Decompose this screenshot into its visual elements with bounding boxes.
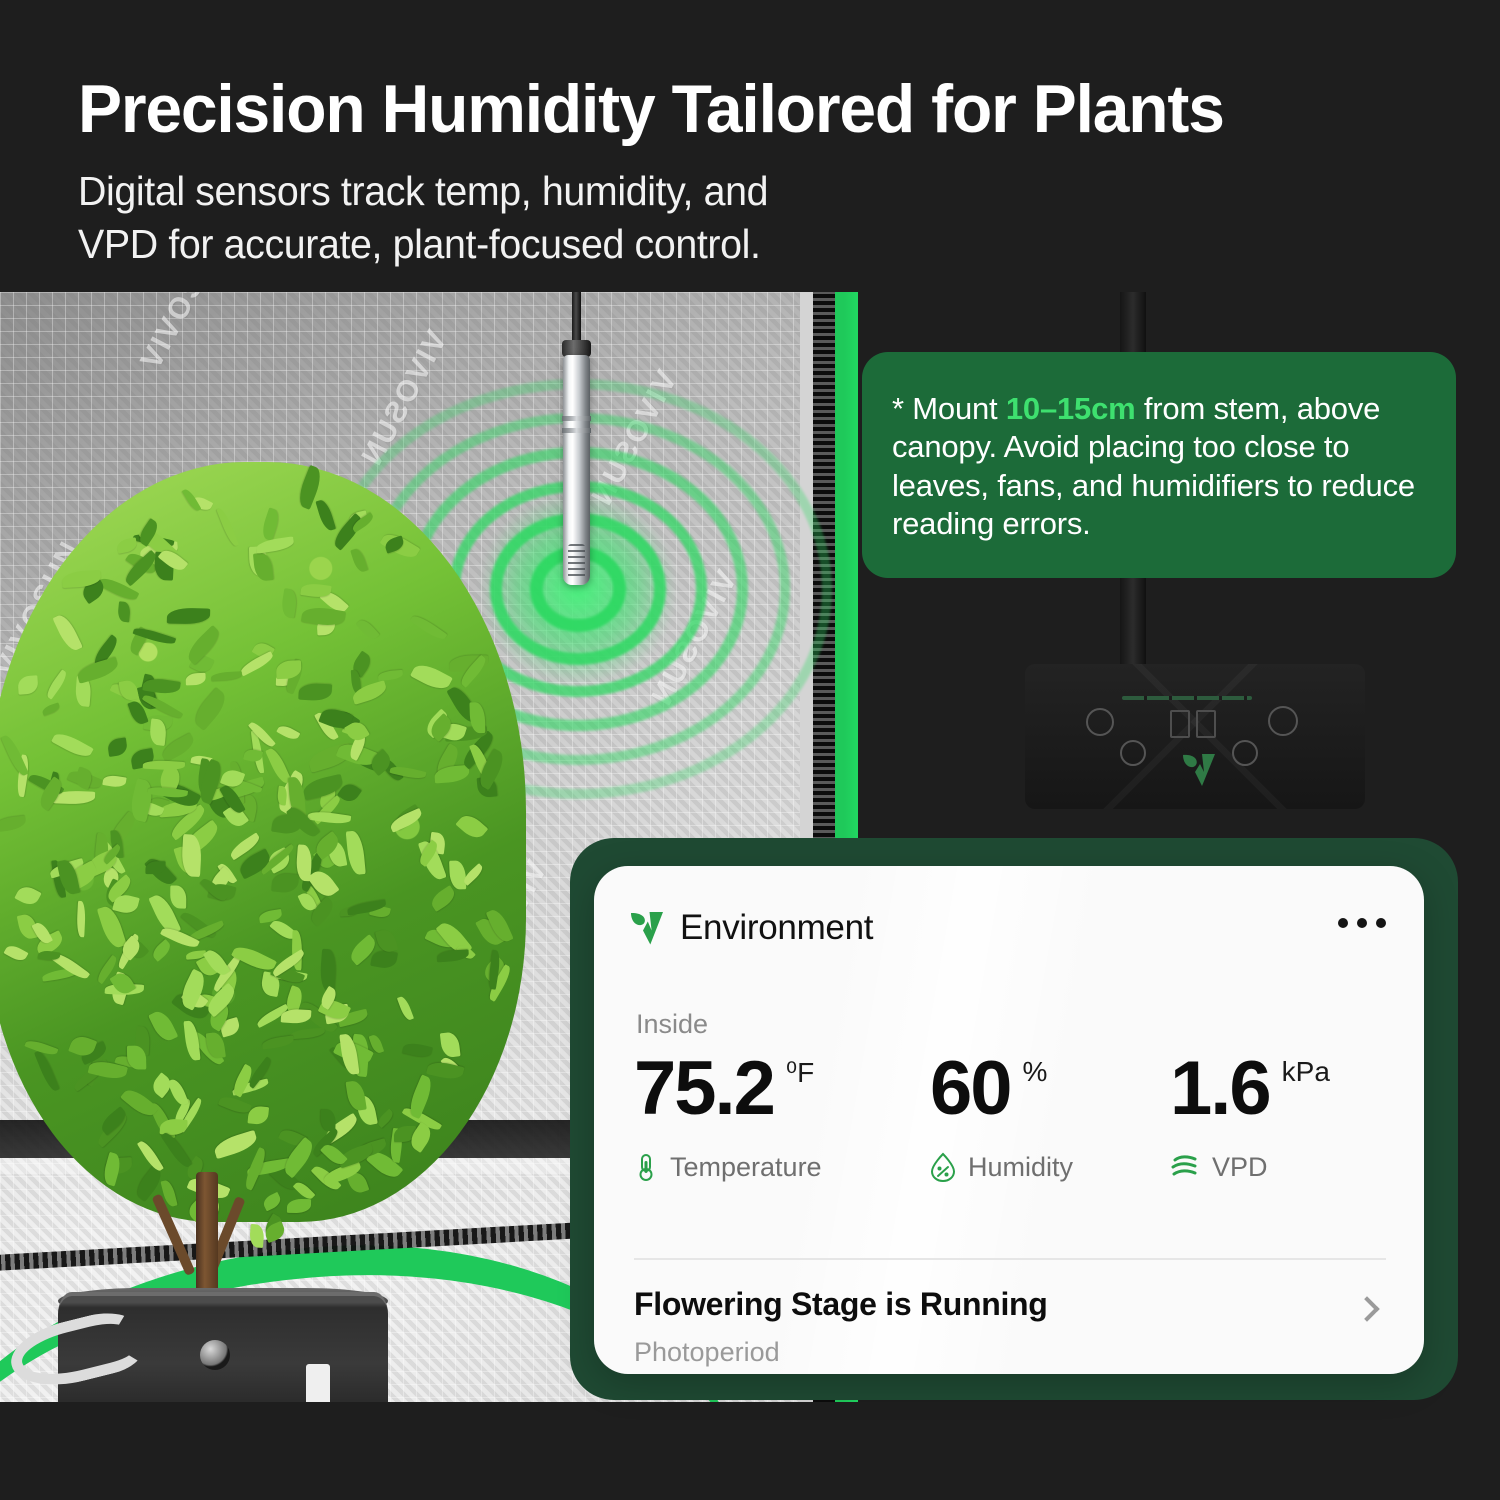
humidity-value: 60 <box>930 1054 1011 1124</box>
subtitle-line-1: Digital sensors track temp, humidity, an… <box>78 165 1403 218</box>
vpd-value: 1.6 <box>1170 1054 1270 1124</box>
vpd-label: VPD <box>1212 1152 1268 1183</box>
plant-leaf <box>411 660 454 694</box>
stage-status-title: Flowering Stage is Running <box>634 1286 1048 1323</box>
stage-status-row[interactable]: Flowering Stage is Running Photoperiod <box>634 1286 1048 1368</box>
probe-seam <box>562 416 591 421</box>
plant-leaf <box>406 1074 436 1118</box>
stage-status-subtitle: Photoperiod <box>634 1337 1048 1368</box>
plant-leaf <box>143 759 185 770</box>
plant-leaf <box>17 675 38 694</box>
controller-display <box>1170 710 1218 738</box>
plant-leaf <box>276 722 301 742</box>
plant-leaf <box>436 949 468 962</box>
plant-leaf <box>190 688 231 731</box>
plant-leaf <box>350 548 368 574</box>
plant-leaf <box>449 860 466 890</box>
environment-card[interactable]: Environment Inside 75.2 ⁰F Temperature <box>594 866 1424 1374</box>
temperature-value: 75.2 <box>634 1054 774 1124</box>
plant-leaf <box>161 1130 192 1170</box>
display-digit <box>1196 710 1216 738</box>
page-header: Precision Humidity Tailored for Plants D… <box>78 74 1458 271</box>
plant-leaf <box>51 729 93 760</box>
metric-humidity[interactable]: 60 % Humidity <box>930 1054 1170 1183</box>
metric-vpd[interactable]: 1.6 kPa VPD <box>1170 1054 1390 1183</box>
plant-leaf <box>117 601 131 622</box>
subtitle-line-2: VPD for accurate, plant-focused control. <box>78 218 1403 271</box>
plant-leaf <box>265 746 291 786</box>
plant-leaf <box>15 883 42 908</box>
plant-leaf <box>150 940 174 963</box>
humidity-unit: % <box>1023 1056 1048 1088</box>
plant-leaf <box>253 552 273 582</box>
metrics-row: 75.2 ⁰F Temperature 60 % <box>634 1054 1394 1183</box>
display-digit <box>1170 710 1190 738</box>
plant-leaf <box>4 942 29 963</box>
callout-text-before: Mount <box>912 391 1006 426</box>
plant-leaf <box>183 1020 200 1061</box>
plant-leaf <box>356 617 380 642</box>
plant-leaf <box>212 1130 259 1159</box>
vpd-waves-icon <box>1170 1153 1200 1181</box>
callout-highlight: 10–15cm <box>1006 391 1136 426</box>
plant-leaf <box>231 942 277 975</box>
plant-leaf <box>148 1008 179 1045</box>
page-subtitle: Digital sensors track temp, humidity, an… <box>78 165 1403 272</box>
metric-temperature[interactable]: 75.2 ⁰F Temperature <box>634 1054 930 1183</box>
pot-grommet <box>200 1340 230 1370</box>
plant-leaf <box>170 886 187 909</box>
humidity-drop-icon <box>930 1152 956 1182</box>
dot <box>1357 918 1367 928</box>
plant-leaf <box>116 537 138 554</box>
plant-leaf <box>0 815 27 832</box>
vpd-unit: kPa <box>1282 1056 1330 1088</box>
plant-canopy <box>0 462 526 1222</box>
plant-leaf <box>287 1198 311 1212</box>
card-header: Environment <box>630 908 873 948</box>
callout-text: * Mount 10–15cm from stem, above canopy.… <box>892 390 1422 544</box>
more-options-icon[interactable] <box>1338 918 1386 928</box>
plant-leaf <box>299 684 333 702</box>
plant-leaf <box>456 811 489 843</box>
plant-leaf <box>375 1109 395 1128</box>
plant-leaf <box>410 613 448 643</box>
plant-leaf <box>346 831 366 876</box>
temperature-label: Temperature <box>670 1152 822 1183</box>
plant-trunk <box>196 1172 218 1302</box>
plant-leaf <box>218 1093 252 1116</box>
section-label-inside: Inside <box>636 1009 708 1040</box>
metric-value-group: 1.6 kPa <box>1170 1054 1390 1124</box>
asterisk-marker: * <box>892 391 904 426</box>
vivosun-v-glyph <box>1182 752 1216 788</box>
plant-leaf <box>261 1035 294 1050</box>
plant-leaf <box>167 1076 189 1107</box>
plant-leaf <box>397 995 414 1022</box>
plant-leaf <box>378 670 404 681</box>
metric-footer: Temperature <box>634 1152 930 1183</box>
metric-footer: VPD <box>1170 1152 1390 1183</box>
probe-seam <box>562 428 591 433</box>
plant-leaf <box>319 949 337 992</box>
down-arrow-icon <box>1120 740 1146 766</box>
vivosun-logo <box>630 910 664 946</box>
metric-value-group: 60 % <box>930 1054 1170 1124</box>
plant-leaf <box>167 607 210 624</box>
plant-leaf <box>102 774 126 788</box>
card-title: Environment <box>680 908 873 948</box>
power-icon <box>1086 708 1114 736</box>
plant-leaf <box>107 738 128 757</box>
probe-vents <box>568 544 585 580</box>
plant-leaf <box>216 507 239 548</box>
metric-footer: Humidity <box>930 1152 1170 1183</box>
controller-brand-logo <box>1182 752 1206 778</box>
plant-leaf <box>316 498 337 532</box>
page-title: Precision Humidity Tailored for Plants <box>78 74 1417 145</box>
plant-leaf <box>44 669 70 700</box>
chevron-right-icon[interactable] <box>1354 1296 1379 1321</box>
plant-leaf <box>345 1079 367 1111</box>
dot <box>1338 918 1348 928</box>
plant-leaf <box>276 786 287 805</box>
plant-leaf <box>255 536 294 553</box>
humidity-label: Humidity <box>968 1152 1073 1183</box>
plant-leaf <box>261 1192 283 1212</box>
plant-leaf <box>41 702 61 716</box>
plant-leaf <box>272 873 300 894</box>
plant-leaf <box>211 671 243 681</box>
plant-leaf <box>307 810 351 826</box>
plant-leaf <box>34 1049 59 1093</box>
metric-value-group: 75.2 ⁰F <box>634 1054 930 1124</box>
plant-leaf <box>186 673 206 686</box>
plant-leaf <box>76 901 86 937</box>
up-chevron-icon <box>1268 706 1298 736</box>
plant-leaf <box>428 885 458 912</box>
plant-leaf <box>440 1032 461 1058</box>
thermometer-icon <box>634 1152 658 1182</box>
card-divider <box>634 1258 1386 1260</box>
plant-leaf <box>371 949 398 970</box>
plant-leaf <box>53 612 84 654</box>
down-chevron-icon <box>1232 740 1258 766</box>
mounting-tip-callout: * Mount 10–15cm from stem, above canopy.… <box>862 352 1456 578</box>
plant-leaf <box>402 1041 433 1059</box>
pot-brand-tag <box>306 1364 330 1402</box>
plant-leaf <box>290 1028 325 1040</box>
plant-leaf <box>119 678 139 701</box>
dot <box>1376 918 1386 928</box>
plant-leaf <box>259 508 281 541</box>
plant-leaf <box>281 1008 312 1024</box>
temperature-unit: ⁰F <box>786 1056 814 1089</box>
controller-led-strip <box>1122 696 1252 700</box>
plant-leaf <box>280 588 298 618</box>
